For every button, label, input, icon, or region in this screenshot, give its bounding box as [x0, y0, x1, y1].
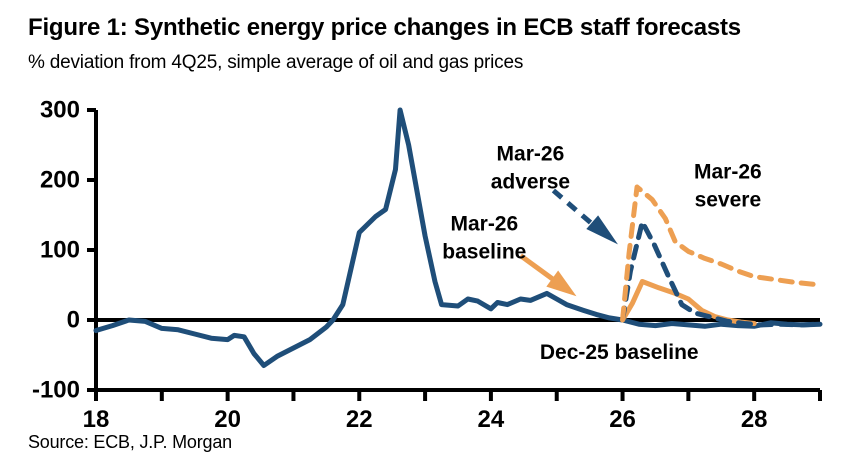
x-tick-label: 28	[741, 406, 768, 433]
annotation-dec25-baseline: Dec-25 baseline	[540, 341, 699, 364]
figure-container: Figure 1: Synthetic energy price changes…	[0, 0, 852, 471]
annotation-arrows-layer	[521, 191, 618, 297]
y-tick-label: 200	[40, 166, 80, 193]
x-tick-label: 20	[214, 406, 241, 433]
annotation-text: severe	[695, 189, 762, 212]
series-line-dec-25-baseline	[96, 110, 820, 366]
series-line-mar-26-baseline	[623, 282, 755, 324]
annotation-text: Dec-25 baseline	[540, 341, 699, 364]
arrow-mar26-adverse	[553, 191, 618, 245]
series-layer	[96, 110, 820, 366]
annotation-mar26-baseline: Mar-26baseline	[442, 212, 526, 263]
annotation-mar26-severe: Mar-26severe	[694, 161, 762, 212]
chart-canvas: -1000100200300182022242628 Mar-26adverse…	[0, 0, 852, 471]
annotation-text: Mar-26	[450, 212, 518, 235]
axes-layer: -1000100200300182022242628	[32, 96, 820, 433]
y-tick-label: 0	[67, 306, 80, 333]
x-tick-label: 24	[478, 406, 505, 433]
annotation-mar26-adverse: Mar-26adverse	[491, 142, 570, 193]
y-tick-label: 300	[40, 96, 80, 123]
annotation-text: Mar-26	[497, 142, 565, 165]
series-line-mar-26-adverse	[623, 222, 820, 325]
x-tick-label: 26	[609, 406, 636, 433]
x-tick-label: 22	[346, 406, 373, 433]
x-tick-label: 18	[83, 406, 110, 433]
y-tick-label: -100	[32, 376, 80, 403]
arrow-mar26-baseline	[521, 256, 577, 297]
annotation-text: Mar-26	[694, 161, 762, 184]
annotation-text: adverse	[491, 170, 570, 193]
annotation-labels-layer: Mar-26adverseMar-26severeMar-26baselineD…	[442, 142, 761, 364]
annotation-text: baseline	[442, 240, 526, 263]
arrow-head	[546, 270, 576, 296]
y-tick-label: 100	[40, 236, 80, 263]
